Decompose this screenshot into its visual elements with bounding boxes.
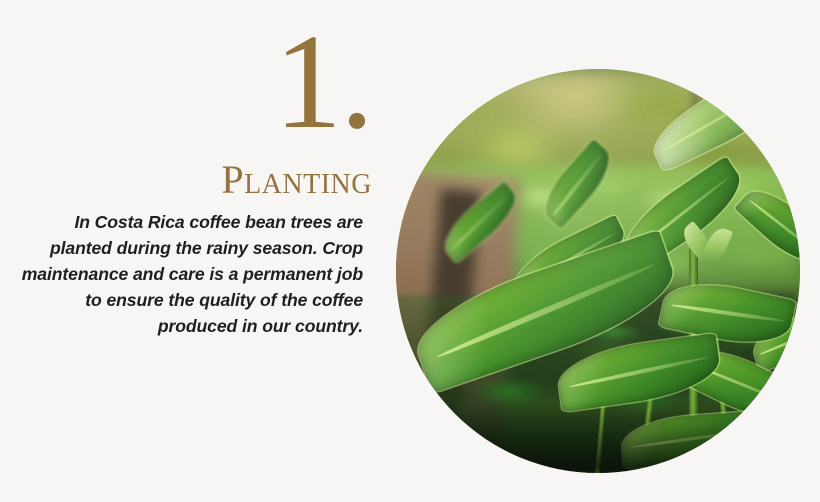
step-number: 1. <box>0 14 372 150</box>
photo-composition <box>396 69 800 473</box>
step-card: 1. Planting In Costa Rica coffee bean tr… <box>0 0 820 502</box>
foreground-soil <box>396 408 800 473</box>
coffee-plantation-circular-photo <box>396 69 800 473</box>
page-title: Planting <box>0 160 372 200</box>
step-description: In Costa Rica coffee bean trees are plan… <box>10 209 363 339</box>
